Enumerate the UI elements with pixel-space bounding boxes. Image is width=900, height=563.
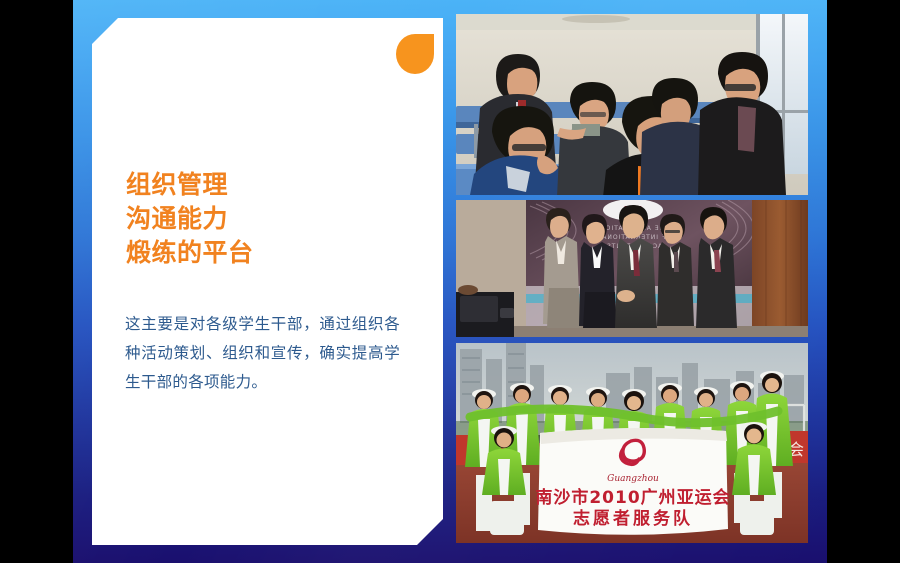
orange-teardrop-icon: [396, 34, 434, 74]
svg-text:南沙市2010广州亚运会: 南沙市2010广州亚运会: [535, 487, 730, 508]
photo-ceremony: 五位身着西装的人员在 AIA 背景板前合影: [456, 200, 808, 337]
slide-background: 组织管理 沟通能力 煅练的平台 这主要是对各级学生干部，通过组织各种活动策划、组…: [73, 0, 827, 563]
body-paragraph: 这主要是对各级学生干部，通过组织各种活动策划、组织和宣传，确实提高学生干部的各项…: [125, 310, 400, 397]
page-title-line-1: 组织管理: [126, 168, 416, 202]
page-title-line-3: 煅练的平台: [126, 236, 416, 270]
letterbox-right: [827, 0, 900, 563]
photo-column: 六名男学生在教室内围坐讨论交流: [456, 14, 808, 543]
letterbox-left: [0, 0, 73, 563]
page-title: 组织管理 沟通能力 煅练的平台: [126, 168, 416, 270]
content-card: 组织管理 沟通能力 煅练的平台 这主要是对各级学生干部，通过组织各种活动策划、组…: [92, 18, 443, 545]
photo-classroom: 六名男学生在教室内围坐讨论交流: [456, 14, 808, 195]
svg-text:Guangzhou: Guangzhou: [607, 474, 659, 484]
page-title-line-2: 沟通能力: [126, 202, 416, 236]
slide-root: 组织管理 沟通能力 煅练的平台 这主要是对各级学生干部，通过组织各种活动策划、组…: [0, 0, 900, 563]
svg-text:志愿者服务队: 志愿者服务队: [573, 508, 693, 529]
photo-volunteers: 志愿者队伍在运动场上手持横幅合影 南沙市2010广州亚运会 志愿者服务队: [456, 343, 808, 543]
